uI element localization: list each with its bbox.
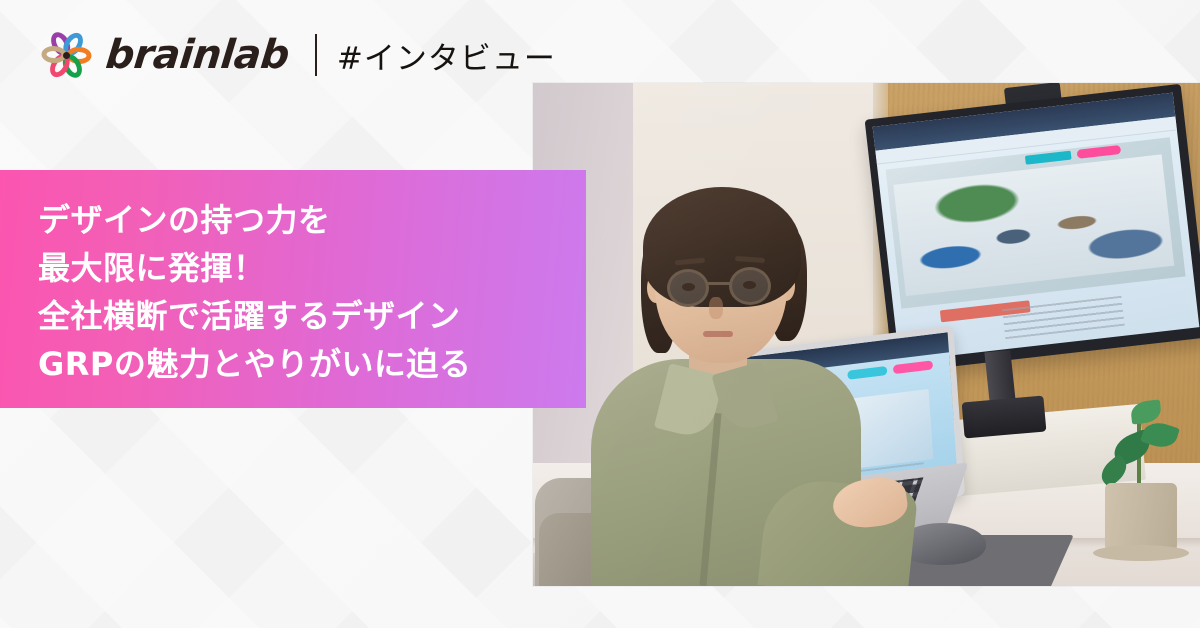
title-line-3: 全社横断で活躍するデザイン [38,292,586,340]
logo-center-dot [63,52,70,59]
brand-header: brainlab #インタビュー [40,24,556,86]
category-tagline: #インタビュー [337,33,556,78]
brand-wordmark: brainlab [104,35,291,75]
photo-laptop-nav-pill [847,366,887,380]
interview-photo [533,83,1200,586]
photo-laptop-cta-button [893,360,933,374]
photo-person-nose [709,297,723,319]
header-divider [315,34,317,76]
interview-banner: brainlab #インタビュー デザインの持つ力を 最大限に発揮！ 全社横断で… [0,0,1200,628]
photo-plant-tray [1093,545,1189,561]
photo-person-mouth [703,331,733,337]
title-band: デザインの持つ力を 最大限に発揮！ 全社横断で活躍するデザイン GRPの魅力とや… [0,170,586,408]
brainlab-logo-icon [40,29,92,81]
title-line-2: 最大限に発揮！ [38,244,586,292]
title-line-4: GRPの魅力とやりがいに迫る [38,340,586,388]
photo-person-eye [743,281,756,289]
title-line-1: デザインの持つ力を [38,196,586,244]
photo-person-eye [682,283,695,291]
photo-external-monitor-screen [873,93,1200,362]
photo-eyeglasses-bridge [708,282,730,285]
photo-usb-hub [962,395,1047,438]
